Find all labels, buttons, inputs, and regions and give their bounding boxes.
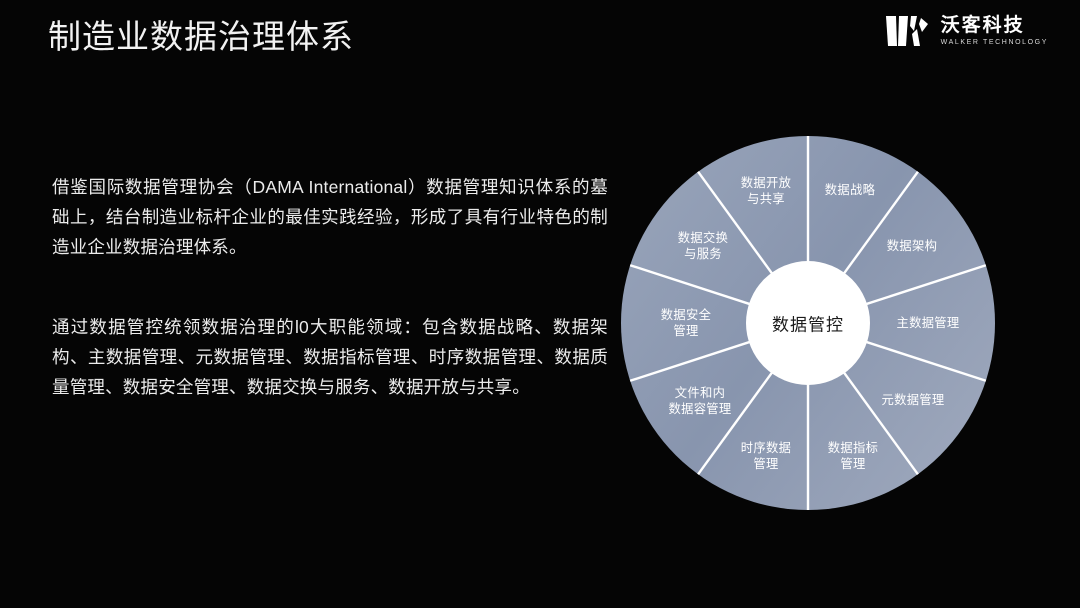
logo-wordmark: 沃客科技 WALKER TECHNOLOGY — [941, 15, 1048, 48]
brand-logo: 沃客科技 WALKER TECHNOLOGY — [884, 14, 1048, 48]
logo-name-en: WALKER TECHNOLOGY — [941, 38, 1048, 48]
wheel-hub-label: 数据管控 — [772, 311, 844, 336]
data-governance-wheel: 数据战略数据架构主数据管理元数据管理数据指标 管理时序数据 管理文件和内 数据容… — [618, 133, 998, 513]
logo-name-cn: 沃客科技 — [941, 15, 1048, 36]
intro-paragraph: 借鉴国际数据管理协会（DAMA International）数据管理知识体系的墓… — [52, 172, 608, 262]
domains-paragraph: 通过数据管控统领数据治理的l0大职能领域：包含数据战略、数据架构、主数据管理、元… — [52, 312, 608, 402]
page-title: 制造业数据治理体系 — [48, 17, 354, 57]
slide-canvas: 制造业数据治理体系 沃客科技 WALKER TECHNOLOGY 借鉴国际数据管… — [0, 0, 1080, 608]
walker-w-mark-icon — [884, 14, 932, 48]
